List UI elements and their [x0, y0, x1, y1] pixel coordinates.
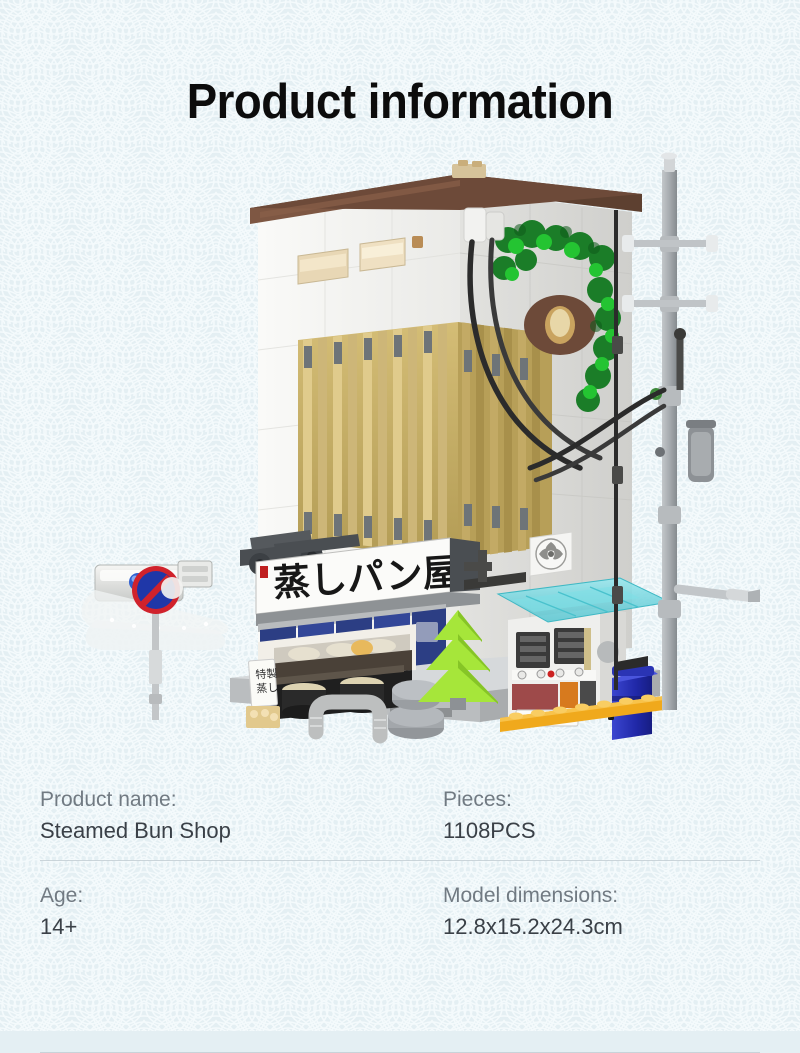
product-spec-table: Product name: Steamed Bun Shop Pieces: 1…	[40, 786, 760, 964]
spec-cell-model-dimensions: Model dimensions: 12.8x15.2x24.3cm	[443, 882, 623, 942]
spec-row: Age: 14+ Model dimensions: 12.8x15.2x24.…	[40, 882, 760, 964]
spec-label: Model dimensions:	[443, 882, 623, 910]
spec-value: 12.8x15.2x24.3cm	[443, 912, 623, 942]
louver-screen	[298, 322, 552, 558]
spec-value: 1108PCS	[443, 816, 536, 846]
spec-value: Steamed Bun Shop	[40, 816, 231, 846]
spec-label: Pieces:	[443, 786, 536, 814]
spec-cell-pieces: Pieces: 1108PCS	[443, 786, 536, 846]
spec-divider	[40, 860, 760, 861]
spec-value: 14+	[40, 912, 83, 942]
spec-label: Product name:	[40, 786, 231, 814]
svg-text:特製: 特製	[255, 666, 278, 682]
duct-pipe	[316, 702, 380, 736]
page-title: Product information	[28, 74, 772, 130]
spec-cell-product-name: Product name: Steamed Bun Shop	[40, 786, 231, 846]
spec-cell-age: Age: 14+	[40, 882, 83, 942]
shop-counter: 特製 蒸し	[246, 624, 444, 739]
svg-text:蒸し: 蒸し	[256, 681, 279, 696]
spec-label: Age:	[40, 882, 83, 910]
spec-row: Product name: Steamed Bun Shop Pieces: 1…	[40, 786, 760, 868]
product-photo: 蒸しパン屋 手作り	[60, 150, 760, 760]
